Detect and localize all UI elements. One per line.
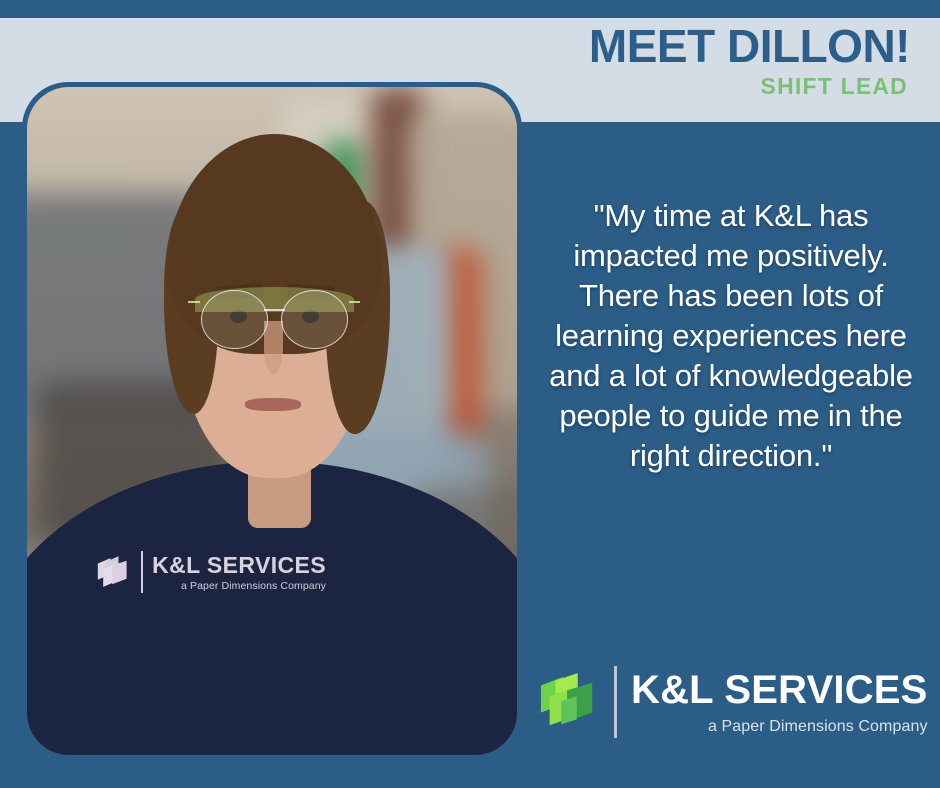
employee-quote: "My time at K&L has impacted me positive… [536, 196, 926, 476]
glasses-lens-left [201, 290, 268, 349]
photo-frame: K&L SERVICES a Paper Dimensions Company [22, 82, 522, 760]
glasses-lens-right [281, 290, 348, 349]
glasses-temple-left [188, 301, 200, 303]
poster-canvas: MEET DILLON! SHIFT LEAD [0, 0, 940, 788]
top-accent-strip [0, 0, 940, 18]
brand-logo-divider [614, 666, 617, 738]
tshirt-logo-text: K&L SERVICES a Paper Dimensions Company [152, 554, 326, 592]
tshirt-brand-tagline: a Paper Dimensions Company [152, 581, 326, 592]
glasses-bridge [264, 309, 285, 311]
person-figure: K&L SERVICES a Paper Dimensions Company [27, 87, 517, 755]
safety-glasses-icon [201, 290, 348, 347]
tshirt-brand-name: K&L SERVICES [152, 554, 326, 577]
page-title: MEET DILLON! [589, 22, 910, 70]
page-subtitle: SHIFT LEAD [589, 74, 908, 99]
mouth-shape [245, 398, 301, 411]
kl-parallelogram-mark-icon [96, 556, 132, 589]
brand-name: K&L SERVICES [631, 670, 928, 710]
tshirt-brand-logo: K&L SERVICES a Paper Dimensions Company [96, 551, 326, 593]
glasses-temple-right [349, 301, 361, 303]
kl-parallelogram-mark-icon [538, 671, 600, 733]
employee-photo: K&L SERVICES a Paper Dimensions Company [27, 87, 517, 755]
brand-logo: K&L SERVICES a Paper Dimensions Company [538, 666, 928, 738]
brand-tagline: a Paper Dimensions Company [631, 719, 928, 735]
header-text-group: MEET DILLON! SHIFT LEAD [589, 22, 910, 100]
brand-logo-text: K&L SERVICES a Paper Dimensions Company [631, 670, 928, 735]
tshirt-logo-divider [141, 551, 144, 593]
